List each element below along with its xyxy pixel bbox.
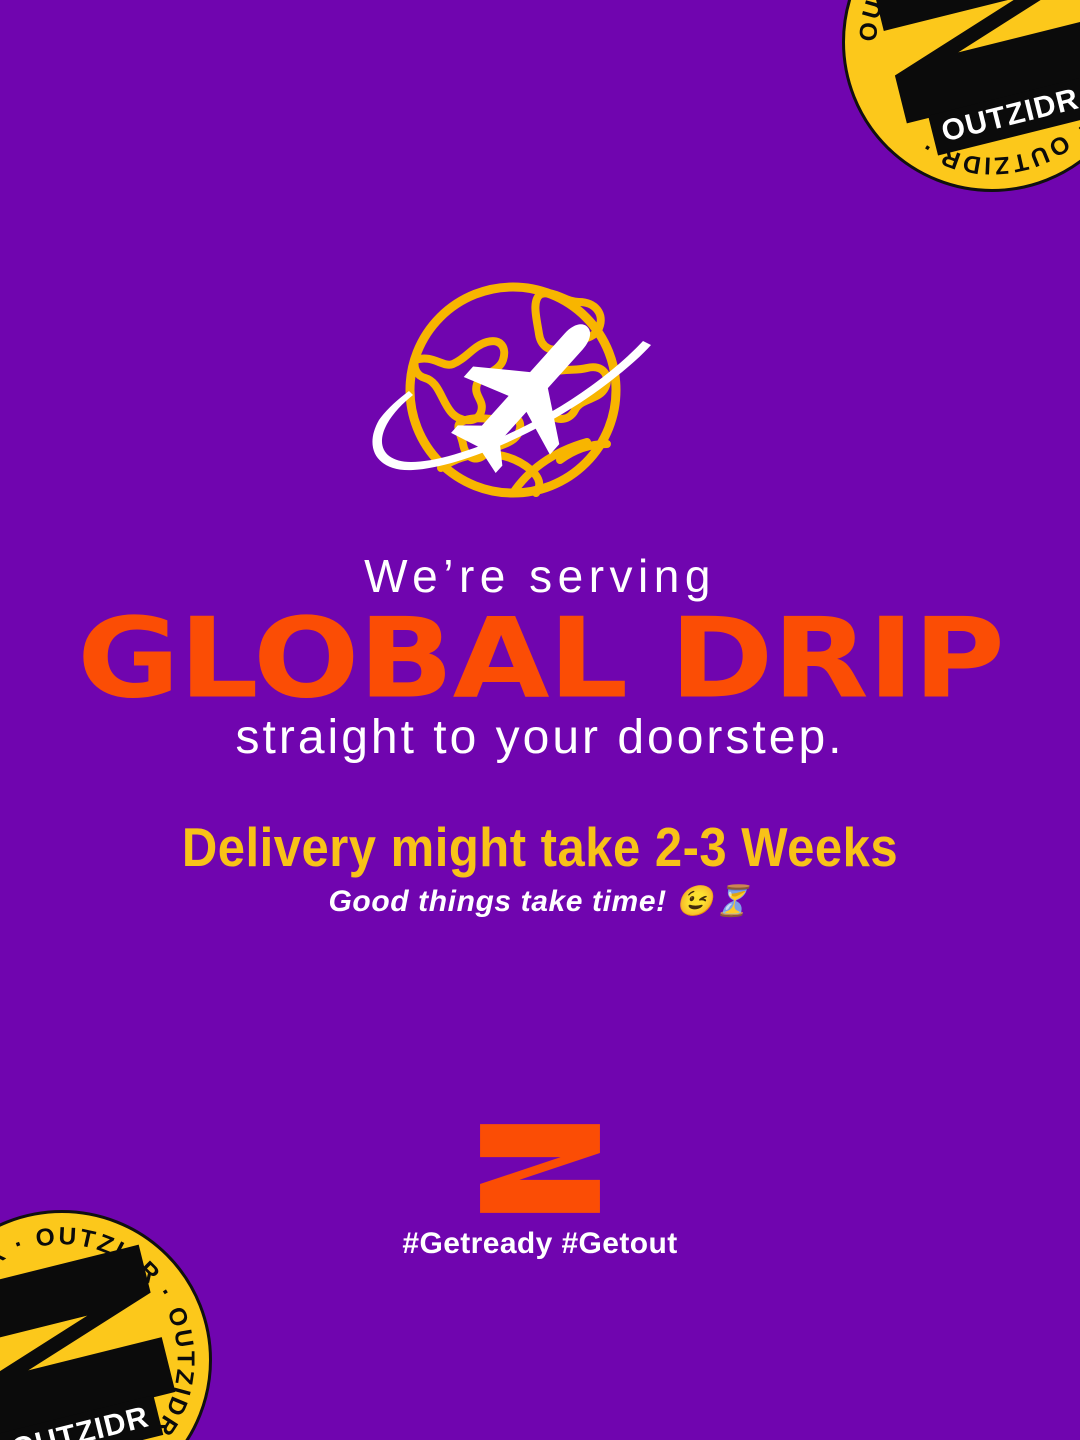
eyebrow-text: We’re serving [0,553,1080,599]
footer-tagline: #Getready #Getout [402,1229,677,1259]
outzidr-z-logo-icon [478,1122,602,1215]
delivery-notice-text: Delivery might take 2-3 Weeks [182,821,898,876]
outzidr-sticker-bottom-left: OUTZIDR · OUTZIDR · OUTZIDR · OUTZIDR · … [0,1210,212,1440]
delivery-subnote: Good things take time! 😉⏳ [0,882,1080,921]
globe-airplane-illustration [355,272,725,517]
subline-text: straight to your doorstep. [0,714,1080,762]
outzidr-sticker-top-right: OUTZIDR · OUTZIDR · OUTZIDR · OUTZIDR · … [842,0,1080,192]
headline: GLOBAL DRIP [0,606,1080,714]
delivery-notice: Delivery might take 2-3 Weeks [0,824,1080,873]
promo-poster: We’re serving GLOBAL DRIP straight to yo… [0,0,1080,1440]
headline-text: GLOBAL DRIP [77,605,1004,715]
